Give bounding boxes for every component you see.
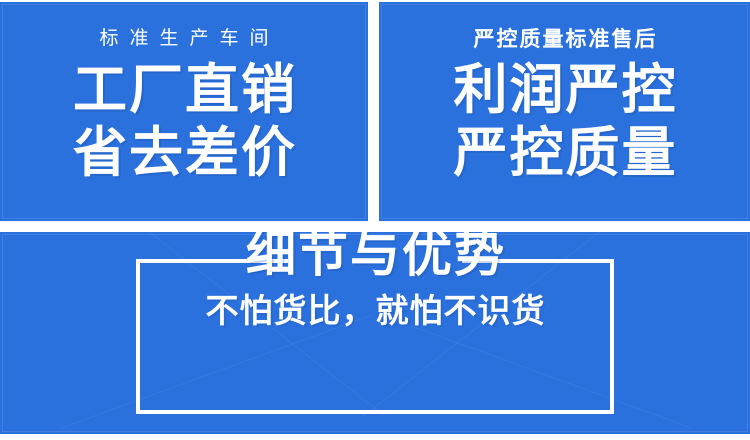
panel-left-headline-line1: 工厂直销 xyxy=(71,62,297,119)
frame-text-group: 细节与优势 不怕货比，就怕不识货 xyxy=(136,232,614,329)
panel-details-advantages-content: 细节与优势 不怕货比，就怕不识货 xyxy=(0,232,750,434)
panel-factory-direct: 标准生产车间 工厂直销 省去差价 xyxy=(0,2,368,221)
frame-border-bottom xyxy=(136,410,614,414)
promo-banner: 标准生产车间 工厂直销 省去差价 严控质量标准售后 利润严控 严控质量 xyxy=(0,0,750,440)
bottom-panel-subtitle: 不怕货比，就怕不识货 xyxy=(205,293,546,329)
panel-right-headline-line2: 严控质量 xyxy=(452,125,678,182)
decorative-frame: 细节与优势 不怕货比，就怕不识货 xyxy=(136,259,614,414)
panel-quality-control-content: 严控质量标准售后 利润严控 严控质量 xyxy=(379,2,750,221)
panel-factory-direct-content: 标准生产车间 工厂直销 省去差价 xyxy=(0,2,368,221)
panel-left-headline-line2: 省去差价 xyxy=(71,125,297,182)
panel-quality-control: 严控质量标准售后 利润严控 严控质量 xyxy=(379,2,750,221)
panel-right-eyebrow: 严控质量标准售后 xyxy=(472,29,658,50)
bottom-panel-title: 细节与优势 xyxy=(244,232,506,279)
panel-right-headline-line1: 利润严控 xyxy=(452,62,678,119)
panel-details-advantages: 细节与优势 不怕货比，就怕不识货 xyxy=(0,232,750,434)
panel-left-eyebrow: 标准生产车间 xyxy=(88,29,279,48)
